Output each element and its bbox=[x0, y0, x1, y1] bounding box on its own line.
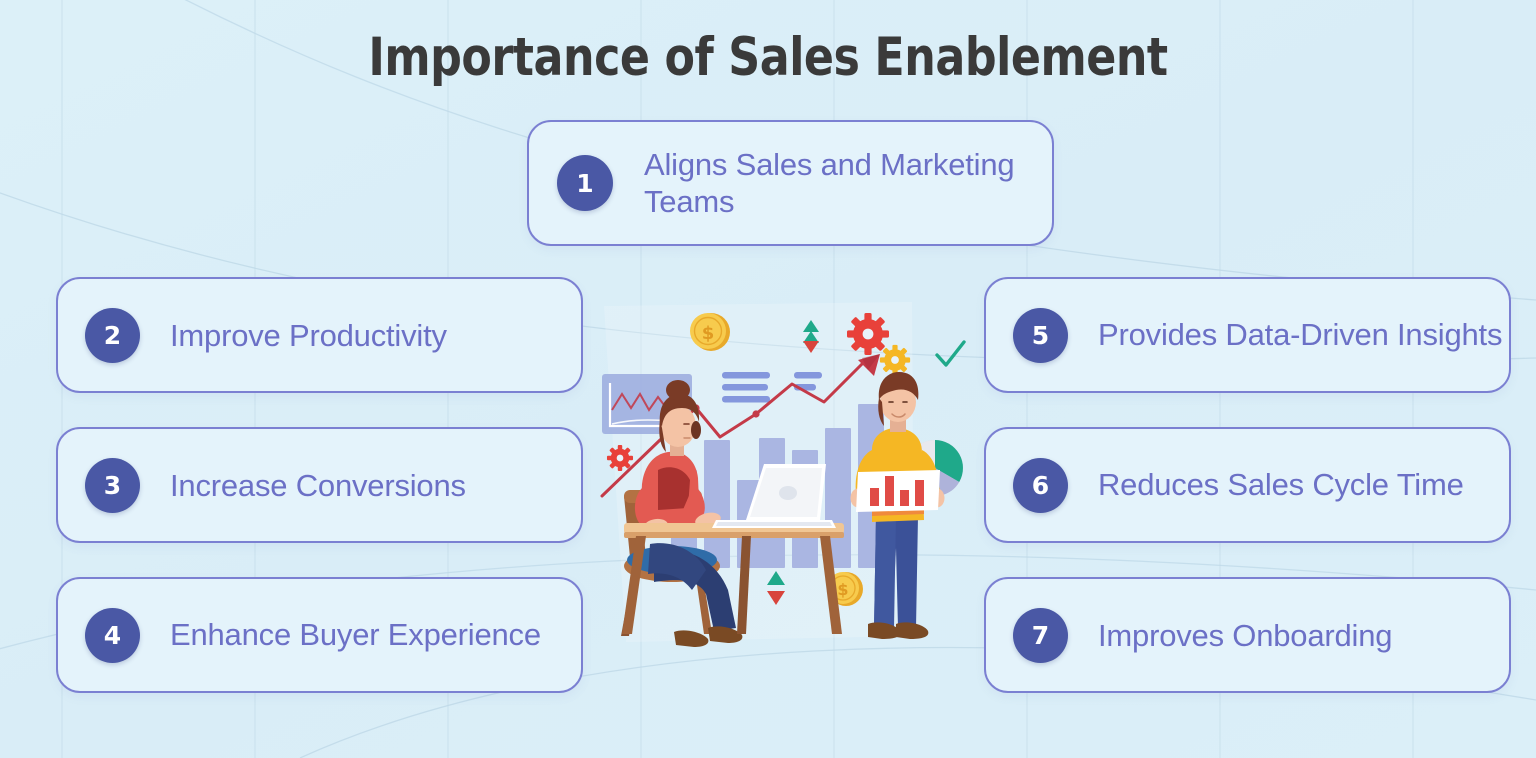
card-number-badge: 1 bbox=[557, 155, 613, 211]
card-label: Enhance Buyer Experience bbox=[170, 616, 541, 654]
card-label: Increase Conversions bbox=[170, 467, 466, 504]
check-mark-icon bbox=[937, 342, 964, 365]
card-number-badge: 7 bbox=[1013, 608, 1068, 663]
card-number-badge: 2 bbox=[85, 308, 140, 363]
gear-yellow-icon bbox=[880, 345, 910, 375]
benefit-card-1[interactable]: 1 Aligns Sales and Marketing Teams bbox=[527, 120, 1054, 246]
benefit-card-7[interactable]: 7 Improves Onboarding bbox=[984, 577, 1511, 693]
sales-analytics-illustration: $ $ bbox=[596, 298, 980, 660]
page-title: Importance of Sales Enablement bbox=[54, 28, 1482, 87]
card-label: Provides Data-Driven Insights bbox=[1098, 316, 1502, 354]
card-number-badge: 6 bbox=[1013, 458, 1068, 513]
benefit-card-6[interactable]: 6 Reduces Sales Cycle Time bbox=[984, 427, 1511, 543]
card-number-badge: 5 bbox=[1013, 308, 1068, 363]
svg-text:$: $ bbox=[702, 323, 715, 344]
benefit-card-5[interactable]: 5 Provides Data-Driven Insights bbox=[984, 277, 1511, 393]
card-label: Improves Onboarding bbox=[1098, 617, 1392, 654]
benefit-card-4[interactable]: 4 Enhance Buyer Experience bbox=[56, 577, 583, 693]
held-chart-board bbox=[856, 470, 940, 512]
gear-red-small-icon bbox=[607, 445, 633, 471]
card-number-badge: 3 bbox=[85, 458, 140, 513]
card-label: Improve Productivity bbox=[170, 317, 447, 354]
card-label: Aligns Sales and Marketing Teams bbox=[644, 146, 1052, 220]
benefit-card-3[interactable]: 3 Increase Conversions bbox=[56, 427, 583, 543]
svg-text:$: $ bbox=[837, 580, 848, 599]
benefit-card-2[interactable]: 2 Improve Productivity bbox=[56, 277, 583, 393]
card-label: Reduces Sales Cycle Time bbox=[1098, 466, 1464, 504]
card-number-badge: 4 bbox=[85, 608, 140, 663]
gear-red-icon bbox=[847, 313, 889, 355]
